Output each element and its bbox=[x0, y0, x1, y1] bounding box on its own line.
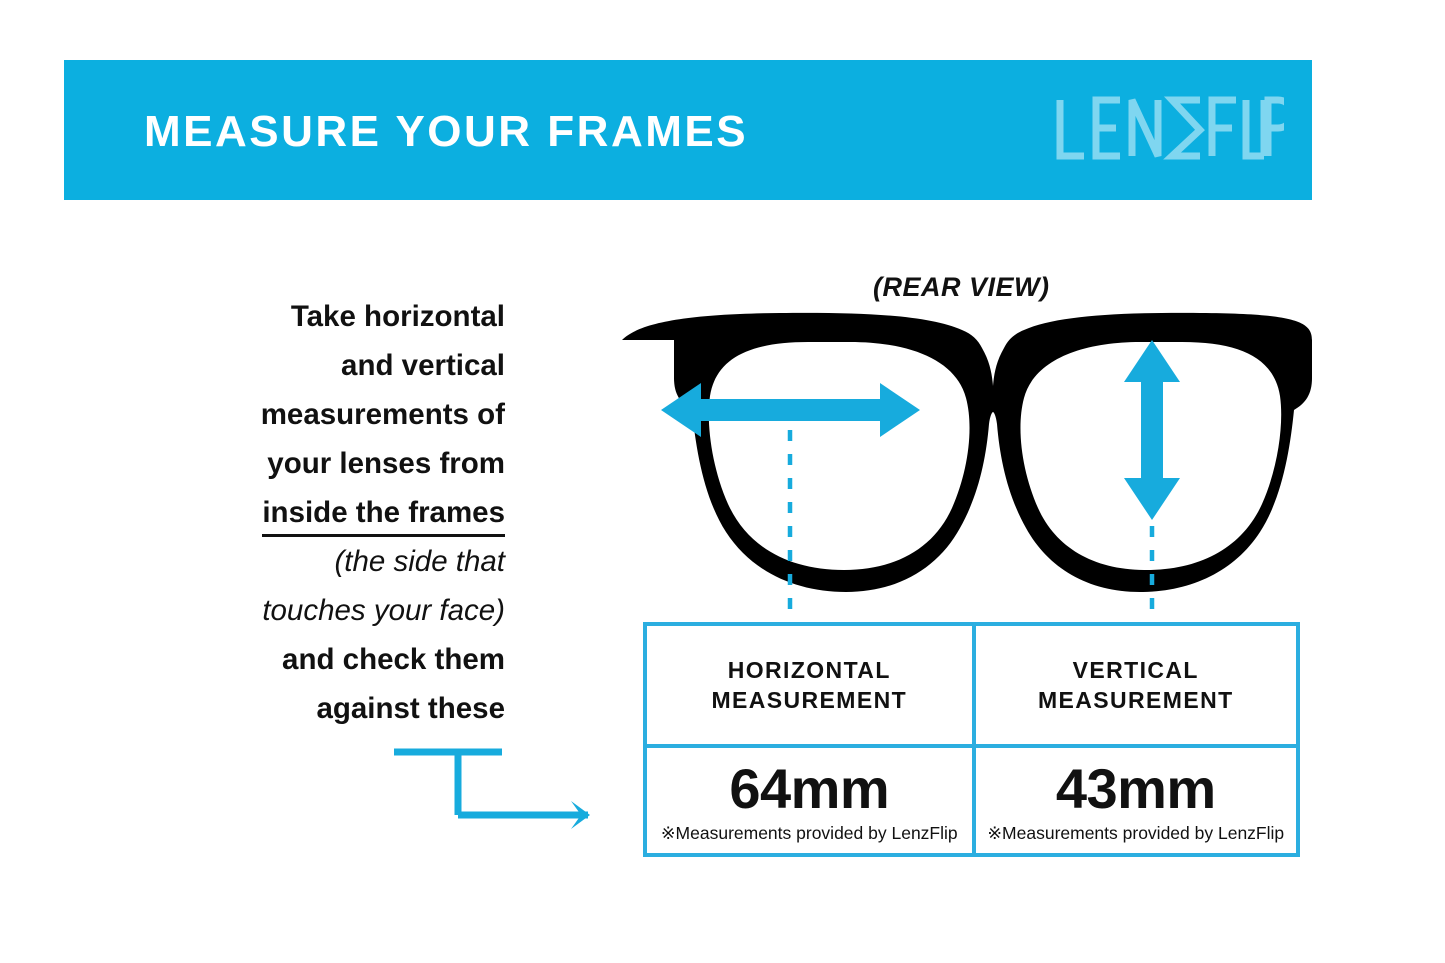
vertical-measurement-arrow-icon bbox=[1124, 340, 1180, 520]
vertical-measurement-note: ※Measurements provided by LenzFlip bbox=[987, 823, 1284, 843]
horizontal-header-line-2: MEASUREMENT bbox=[711, 685, 907, 715]
table-header-cell-horizontal: HORIZONTAL MEASUREMENT bbox=[647, 626, 972, 744]
connector-elbow-arrow-icon bbox=[390, 735, 605, 835]
vertical-header-line-1: VERTICAL bbox=[1073, 655, 1199, 685]
glasses-diagram bbox=[600, 300, 1320, 630]
instruction-line-7: touches your face) bbox=[160, 586, 505, 635]
vertical-measurement-value: 43mm bbox=[1056, 759, 1216, 819]
page-title: MEASURE YOUR FRAMES bbox=[144, 110, 748, 154]
instruction-line-2: and vertical bbox=[160, 341, 505, 390]
header-bar: MEASURE YOUR FRAMES LENZFLIP bbox=[64, 60, 1312, 200]
horizontal-header-line-1: HORIZONTAL bbox=[728, 655, 891, 685]
instruction-line-6: (the side that bbox=[160, 537, 505, 586]
instruction-line-8: and check them bbox=[160, 635, 505, 684]
horizontal-measurement-arrow-icon bbox=[661, 383, 920, 437]
vertical-header-line-2: MEASUREMENT bbox=[1038, 685, 1234, 715]
instruction-line-5-emphasis: inside the frames bbox=[262, 493, 505, 537]
instruction-line-1: Take horizontal bbox=[160, 292, 505, 341]
instruction-line-4: your lenses from bbox=[160, 439, 505, 488]
measurements-table: HORIZONTAL MEASUREMENT VERTICAL MEASUREM… bbox=[643, 622, 1300, 857]
rear-view-label: (REAR VIEW) bbox=[873, 272, 1050, 303]
instruction-line-9: against these bbox=[160, 684, 505, 733]
infographic-page: MEASURE YOUR FRAMES LENZFLIP bbox=[0, 0, 1445, 963]
horizontal-measurement-value: 64mm bbox=[729, 759, 889, 819]
table-header-cell-vertical: VERTICAL MEASUREMENT bbox=[972, 626, 1297, 744]
instruction-line-3: measurements of bbox=[160, 390, 505, 439]
instructions-block: Take horizontal and vertical measurement… bbox=[160, 292, 505, 733]
table-value-cell-vertical: 43mm ※Measurements provided by LenzFlip bbox=[972, 744, 1297, 853]
eyeglass-frame-icon bbox=[622, 313, 1312, 592]
horizontal-measurement-note: ※Measurements provided by LenzFlip bbox=[661, 823, 958, 843]
lenzflip-logo: LENZFLIP bbox=[1054, 96, 1284, 164]
table-value-cell-horizontal: 64mm ※Measurements provided by LenzFlip bbox=[647, 744, 972, 853]
